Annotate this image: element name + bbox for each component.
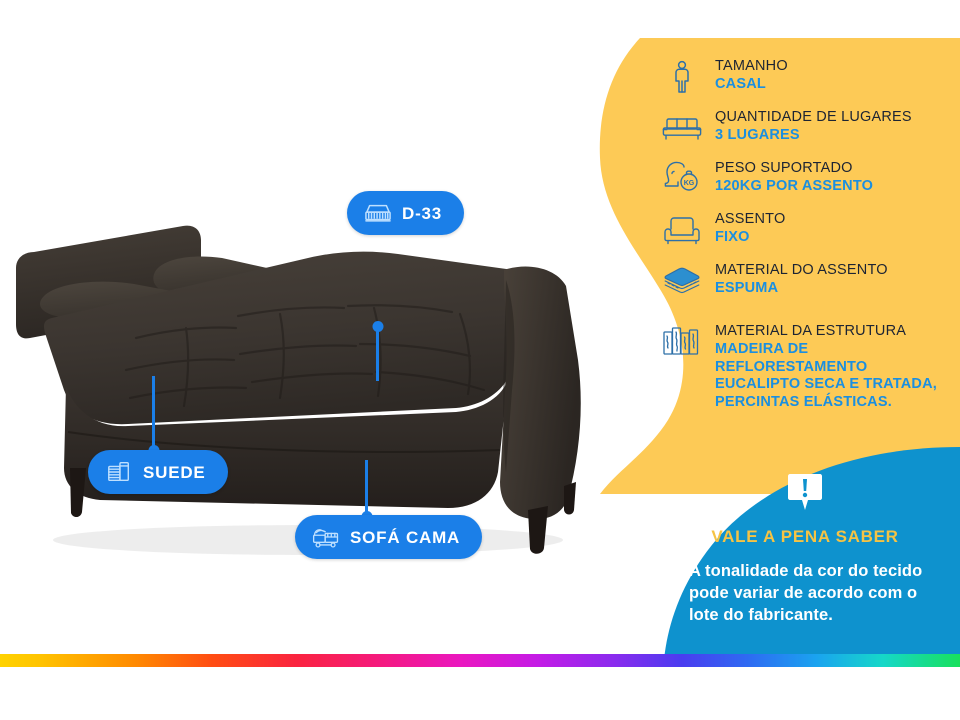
spec-value: CASAL [715, 76, 952, 93]
callout-pill-label: SUEDE [143, 464, 206, 481]
specifications-list: TAMANHO CASAL QUANTIDADE DE LUGARES 3 LU… [662, 58, 952, 426]
spec-label: MATERIAL DA ESTRUTURA [715, 323, 952, 340]
note-title: VALE A PENA SABER [660, 528, 950, 545]
callout-pill-label: D-33 [402, 205, 442, 222]
connector-dot [372, 321, 383, 332]
connector-suede [152, 376, 155, 452]
person-icon [662, 59, 702, 95]
spec-value: 3 LUGARES [715, 127, 952, 144]
spec-label: TAMANHO [715, 58, 952, 75]
connector-d33 [376, 325, 379, 381]
product-photo-sofa-bed [8, 210, 588, 570]
sofa-leg-left [70, 468, 86, 517]
spec-value: ESPUMA [715, 280, 952, 297]
wood-planks-icon [662, 324, 702, 360]
spec-value: 120KG POR ASSENTO [715, 178, 952, 195]
connector-sofacama [365, 460, 368, 518]
three-seat-sofa-icon [662, 110, 702, 146]
svg-text:KG: KG [684, 180, 695, 187]
product-infographic: D-33 SUEDE SOFÁ CAMA [0, 0, 960, 720]
exclamation-bubble-icon [782, 470, 828, 514]
sofa-leg-back [564, 482, 576, 515]
spec-row-tamanho: TAMANHO CASAL [662, 58, 952, 95]
weight-kg-icon: KG [662, 161, 702, 197]
rainbow-gradient-bar [0, 654, 960, 667]
spec-label: QUANTIDADE DE LUGARES [715, 109, 952, 126]
spec-row-material-assento: MATERIAL DO ASSENTO ESPUMA [662, 262, 952, 299]
callout-pill-suede[interactable]: SUEDE [88, 450, 228, 494]
spec-row-lugares: QUANTIDADE DE LUGARES 3 LUGARES [662, 109, 952, 146]
note-block-vale-a-pena-saber: VALE A PENA SABER • A tonalidade da cor … [660, 470, 950, 627]
spec-label: PESO SUPORTADO [715, 160, 952, 177]
callout-pill-sofa-cama[interactable]: SOFÁ CAMA [295, 515, 482, 559]
callout-pill-d33[interactable]: D-33 [347, 191, 464, 235]
sofa-armrest-right [500, 267, 581, 520]
note-text: A tonalidade da cor do tecido pode varia… [689, 561, 950, 627]
foam-layers-icon [662, 263, 702, 299]
sofa-bed-convertible-icon [311, 524, 341, 550]
spec-row-assento: ASSENTO FIXO [662, 211, 952, 248]
note-bullet: • [676, 561, 682, 627]
spec-row-estrutura: MATERIAL DA ESTRUTURA MADEIRA DE REFLORE… [662, 323, 952, 412]
spec-value: FIXO [715, 229, 952, 246]
spec-value: MADEIRA DE REFLORESTAMENTO EUCALIPTO SEC… [715, 341, 952, 412]
fabric-roll-icon [104, 459, 134, 485]
callout-pill-label: SOFÁ CAMA [350, 529, 460, 546]
mattress-foam-icon [363, 200, 393, 226]
spec-label: MATERIAL DO ASSENTO [715, 262, 952, 279]
sofa-leg-right [528, 506, 548, 554]
sofa-highlight [178, 292, 438, 368]
spec-row-peso: KG PESO SUPORTADO 120KG POR ASSENTO [662, 160, 952, 197]
armchair-icon [662, 212, 702, 248]
spec-label: ASSENTO [715, 211, 952, 228]
